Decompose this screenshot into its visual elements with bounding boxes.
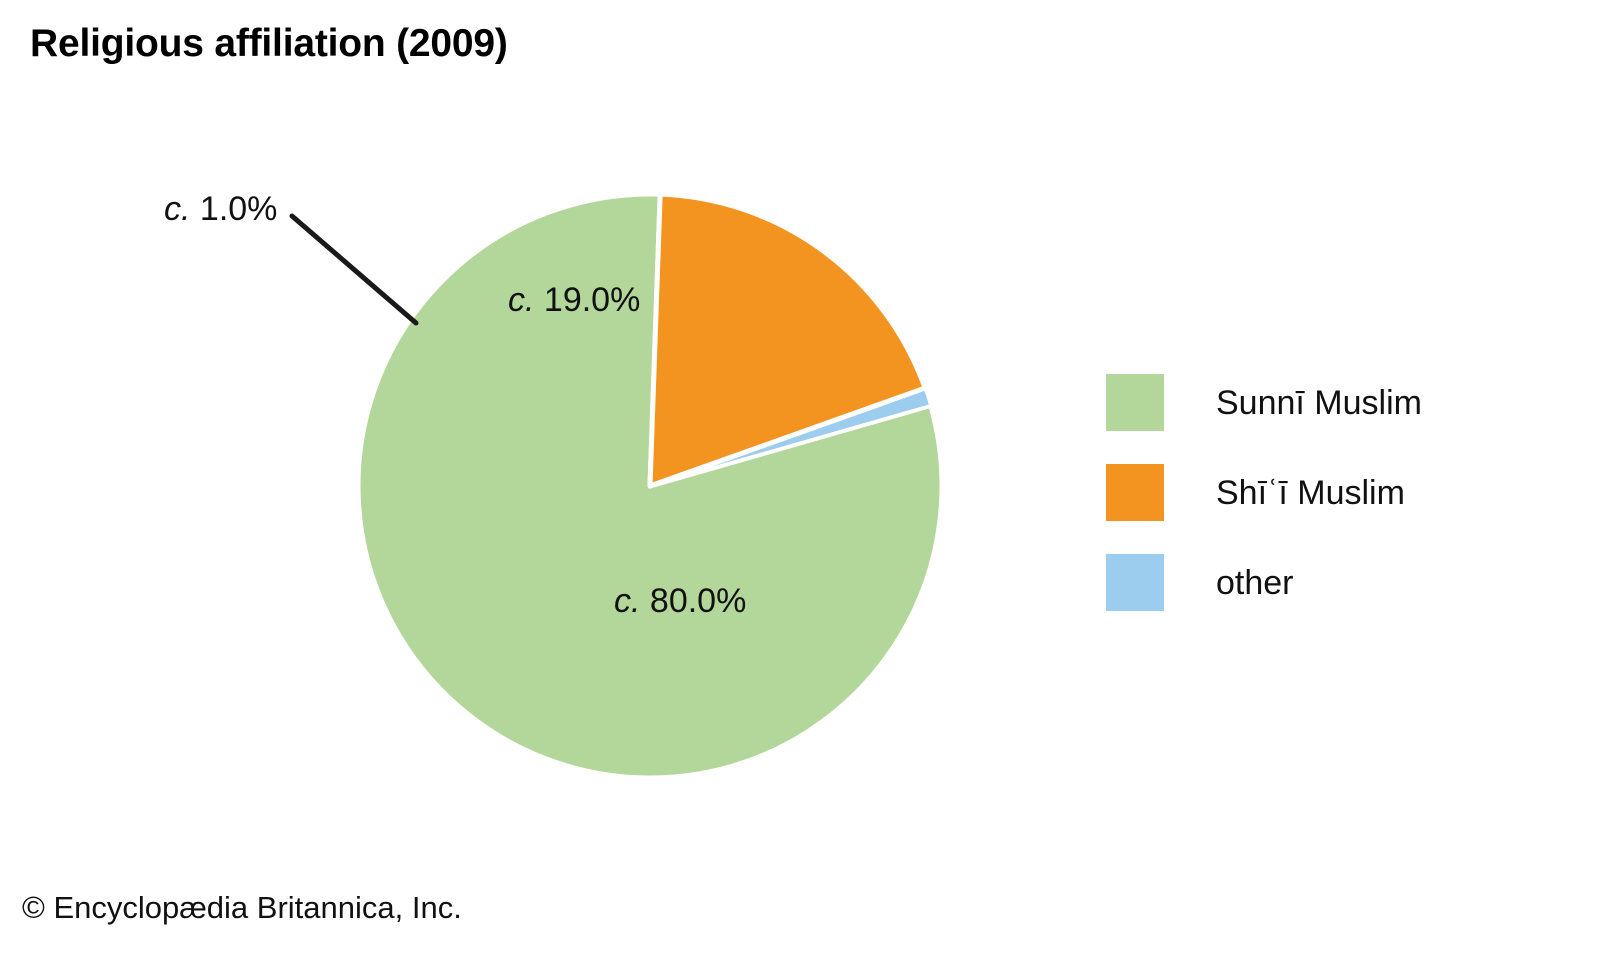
legend-item-shia[interactable]: Shīʿī Muslim — [1106, 464, 1526, 521]
pie-label-sunni-value: 80.0% — [650, 582, 746, 620]
pie-label-shia-value: 19.0% — [544, 281, 640, 319]
pie-label-sunni-approx: c. — [614, 582, 640, 620]
pie-label-sunni: c. 80.0% — [614, 582, 746, 621]
legend-swatch-other — [1106, 554, 1164, 611]
legend-label-sunni: Sunnī Muslim — [1216, 386, 1422, 420]
legend-label-shia: Shīʿī Muslim — [1216, 476, 1405, 510]
legend-swatch-shia — [1106, 464, 1164, 521]
leader-line-other — [292, 216, 416, 323]
pie-label-shia: c. 19.0% — [508, 281, 640, 320]
legend: Sunnī Muslim Shīʿī Muslim other — [1106, 374, 1526, 644]
legend-label-other: other — [1216, 566, 1294, 600]
copyright-notice: © Encyclopædia Britannica, Inc. — [22, 890, 462, 926]
legend-swatch-sunni — [1106, 374, 1164, 431]
legend-item-other[interactable]: other — [1106, 554, 1526, 611]
pie-label-shia-approx: c. — [508, 281, 534, 319]
pie-label-other-approx: c. — [164, 190, 190, 228]
pie-label-other: c. 1.0% — [164, 190, 277, 229]
legend-item-sunni[interactable]: Sunnī Muslim — [1106, 374, 1526, 431]
pie-label-other-value: 1.0% — [200, 190, 278, 228]
